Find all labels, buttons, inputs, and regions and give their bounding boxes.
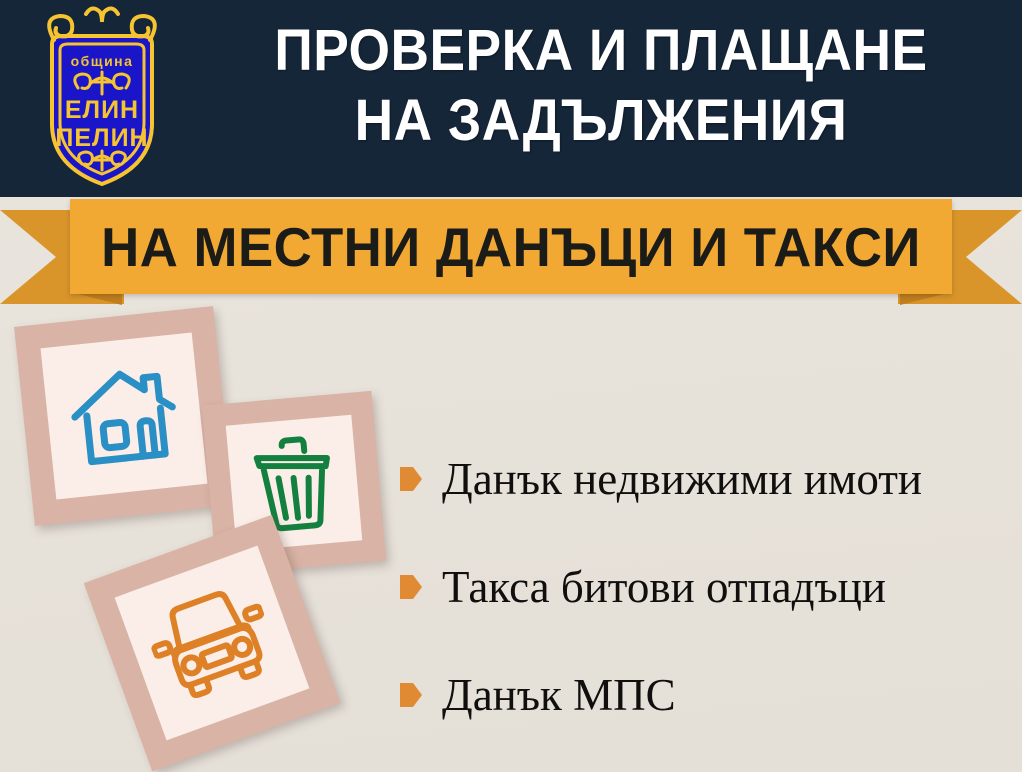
svg-text:община: община: [71, 53, 134, 69]
stamp-house: [14, 306, 234, 526]
stamp-inner-house: [40, 332, 207, 499]
poster-header: община ЕЛИН ПЕЛИН: [0, 0, 1022, 197]
list-item[interactable]: Данък недвижими имоти: [400, 425, 1010, 533]
tax-payment-poster: община ЕЛИН ПЕЛИН: [0, 0, 1022, 772]
list-item[interactable]: Данък МПС: [400, 641, 1010, 749]
poster-title-line-1: ПРОВЕРКА И ПЛАЩАНЕ: [223, 16, 979, 86]
tax-types-list: Данък недвижими имоти Такса битови отпад…: [400, 425, 1010, 749]
arrow-bullet-icon: [400, 683, 422, 707]
car-icon: [139, 574, 285, 712]
svg-text:ЕЛИН: ЕЛИН: [65, 96, 139, 124]
list-item-label: Данък недвижими имоти: [442, 457, 922, 502]
subtitle-ribbon: НА МЕСТНИ ДАНЪЦИ И ТАКСИ: [0, 196, 1022, 308]
list-item[interactable]: Такса битови отпадъци: [400, 533, 1010, 641]
ribbon-label: НА МЕСТНИ ДАНЪЦИ И ТАКСИ: [88, 199, 935, 294]
poster-title-line-2: НА ЗАДЪЛЖЕНИЯ: [223, 86, 979, 156]
arrow-bullet-icon: [400, 467, 422, 491]
list-item-label: Данък МПС: [442, 673, 676, 718]
arrow-bullet-icon: [400, 575, 422, 599]
poster-title: ПРОВЕРКА И ПЛАЩАНЕ НА ЗАДЪЛЖЕНИЯ: [223, 16, 979, 156]
municipality-logo: община ЕЛИН ПЕЛИН: [22, 6, 182, 192]
house-icon: [64, 361, 184, 472]
list-item-label: Такса битови отпадъци: [442, 565, 886, 610]
svg-text:ПЕЛИН: ПЕЛИН: [55, 124, 148, 152]
